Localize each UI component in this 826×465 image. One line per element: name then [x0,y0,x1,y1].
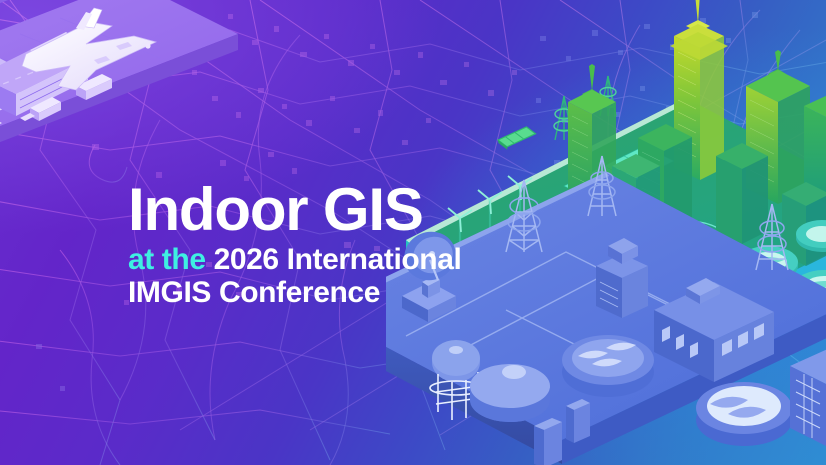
subtitle-prefix: at the [128,243,206,276]
subtitle-year-line: 2026 International [214,243,462,276]
subtitle-line-one: at the 2026 International [128,243,558,277]
floating-solar-panel [497,126,537,151]
page-title: Indoor GIS [128,181,558,240]
airport-terminal-layer [0,0,238,170]
headline-block: Indoor GIS at the 2026 International IMG… [128,181,558,310]
conference-banner: Indoor GIS at the 2026 International IMG… [0,0,826,465]
subtitle-line-two: IMGIS Conference [128,276,558,310]
storage-silos [790,348,826,446]
